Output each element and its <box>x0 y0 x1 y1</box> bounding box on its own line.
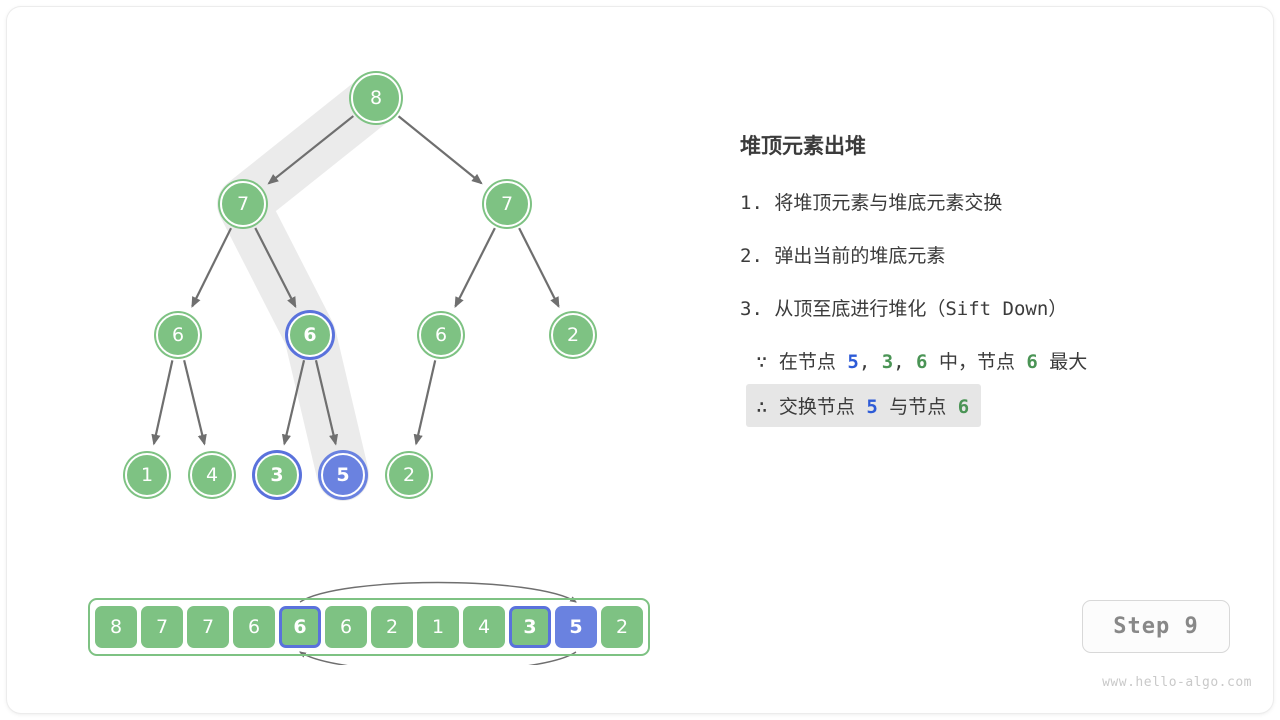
array-cell-value: 7 <box>202 616 214 638</box>
array-cell[interactable]: 8 <box>95 606 137 648</box>
tree-node-label: 7 <box>237 195 249 214</box>
tree-node-label: 1 <box>141 466 153 485</box>
array-cell[interactable]: 7 <box>187 606 229 648</box>
array-cell[interactable]: 2 <box>601 606 643 648</box>
page-title: 堆顶元素出堆 <box>740 130 1240 160</box>
tree-edge <box>154 360 172 443</box>
array-cell[interactable]: 6 <box>279 606 321 648</box>
tree-node-label: 7 <box>501 195 513 214</box>
watermark: www.hello-algo.com <box>1102 675 1252 690</box>
tree-node[interactable]: 4 <box>190 453 234 497</box>
tree-node-label: 2 <box>403 466 415 485</box>
tree-node-label: 8 <box>370 89 382 108</box>
because-post: 最大 <box>1038 351 1087 373</box>
array-cell-value: 2 <box>616 616 628 638</box>
array-cell-value: 6 <box>340 616 352 638</box>
step-item-3: 3. 从顶至底进行堆化（Sift Down） <box>740 294 1240 321</box>
tree-node-label: 2 <box>567 326 579 345</box>
because-symbol: ∵ <box>756 351 767 373</box>
array-cell-value: 3 <box>523 616 536 638</box>
tree-node[interactable]: 1 <box>125 453 169 497</box>
tree-node-label: 3 <box>270 466 283 485</box>
array-cell[interactable]: 6 <box>233 606 275 648</box>
sift-down-highlight-path <box>243 98 376 475</box>
reason-because-line: ∵ 在节点 5, 3, 6 中，节点 6 最大 <box>756 347 1240 374</box>
array-cell[interactable]: 6 <box>325 606 367 648</box>
because-value-4: 6 <box>1026 351 1037 373</box>
therefore-value-2: 6 <box>958 396 969 418</box>
array-cell[interactable]: 3 <box>509 606 551 648</box>
because-pre: 在节点 <box>779 351 847 373</box>
array-cell[interactable]: 2 <box>371 606 413 648</box>
array-cell-value: 4 <box>478 616 490 638</box>
tree-edge <box>184 360 204 444</box>
tree-node[interactable]: 5 <box>321 453 365 497</box>
because-sep-2: , <box>893 351 916 373</box>
array-cell-value: 6 <box>293 616 306 638</box>
therefore-value-1: 5 <box>866 396 877 418</box>
tree-node[interactable]: 6 <box>288 313 332 357</box>
tree-edge <box>455 228 494 306</box>
tree-node[interactable]: 8 <box>351 73 401 123</box>
reason-therefore-line: ∴ 交换节点 5 与节点 6 <box>746 384 981 427</box>
tree-node-label: 6 <box>172 326 184 345</box>
tree-node[interactable]: 7 <box>484 181 530 227</box>
array-cell[interactable]: 1 <box>417 606 459 648</box>
tree-node[interactable]: 6 <box>419 313 463 357</box>
step-item-2: 2. 弹出当前的堆底元素 <box>740 241 1240 268</box>
because-value-1: 5 <box>847 351 858 373</box>
because-value-3: 6 <box>916 351 927 373</box>
tree-node-label: 6 <box>303 326 316 345</box>
step-item-1: 1. 将堆顶元素与堆底元素交换 <box>740 188 1240 215</box>
binary-heap-tree: 877666214352 <box>0 0 720 560</box>
slide-canvas: 877666214352 877666214352 堆顶元素出堆 1. 将堆顶元… <box>0 0 1280 720</box>
array-cell-value: 1 <box>432 616 444 638</box>
because-sep-1: , <box>859 351 882 373</box>
therefore-symbol: ∴ <box>756 396 767 418</box>
explanation-panel: 堆顶元素出堆 1. 将堆顶元素与堆底元素交换 2. 弹出当前的堆底元素 3. 从… <box>740 130 1240 437</box>
tree-edge <box>399 116 482 183</box>
tree-node[interactable]: 3 <box>255 453 299 497</box>
array-cell-value: 7 <box>156 616 168 638</box>
tree-edge <box>192 228 231 306</box>
array-cell[interactable]: 4 <box>463 606 505 648</box>
array-cell-value: 5 <box>569 616 582 638</box>
array-cell-value: 2 <box>386 616 398 638</box>
array-cell[interactable]: 7 <box>141 606 183 648</box>
heap-array: 877666214352 <box>88 598 650 656</box>
tree-node[interactable]: 2 <box>387 453 431 497</box>
array-cell[interactable]: 5 <box>555 606 597 648</box>
tree-node[interactable]: 6 <box>156 313 200 357</box>
because-value-2: 3 <box>882 351 893 373</box>
tree-node[interactable]: 7 <box>220 181 266 227</box>
tree-node-label: 6 <box>435 326 447 345</box>
therefore-pre: 交换节点 <box>779 396 866 418</box>
array-cell-value: 8 <box>110 616 122 638</box>
tree-node-label: 5 <box>336 466 349 485</box>
because-mid: 中，节点 <box>928 351 1027 373</box>
tree-edge <box>416 360 435 443</box>
tree-node[interactable]: 2 <box>551 313 595 357</box>
status-badge: Step 9 <box>1082 600 1230 653</box>
tree-edge <box>519 228 558 306</box>
array-cell-value: 6 <box>248 616 260 638</box>
tree-edge-layer <box>154 116 559 444</box>
therefore-mid: 与节点 <box>878 396 958 418</box>
tree-node-label: 4 <box>206 466 218 485</box>
